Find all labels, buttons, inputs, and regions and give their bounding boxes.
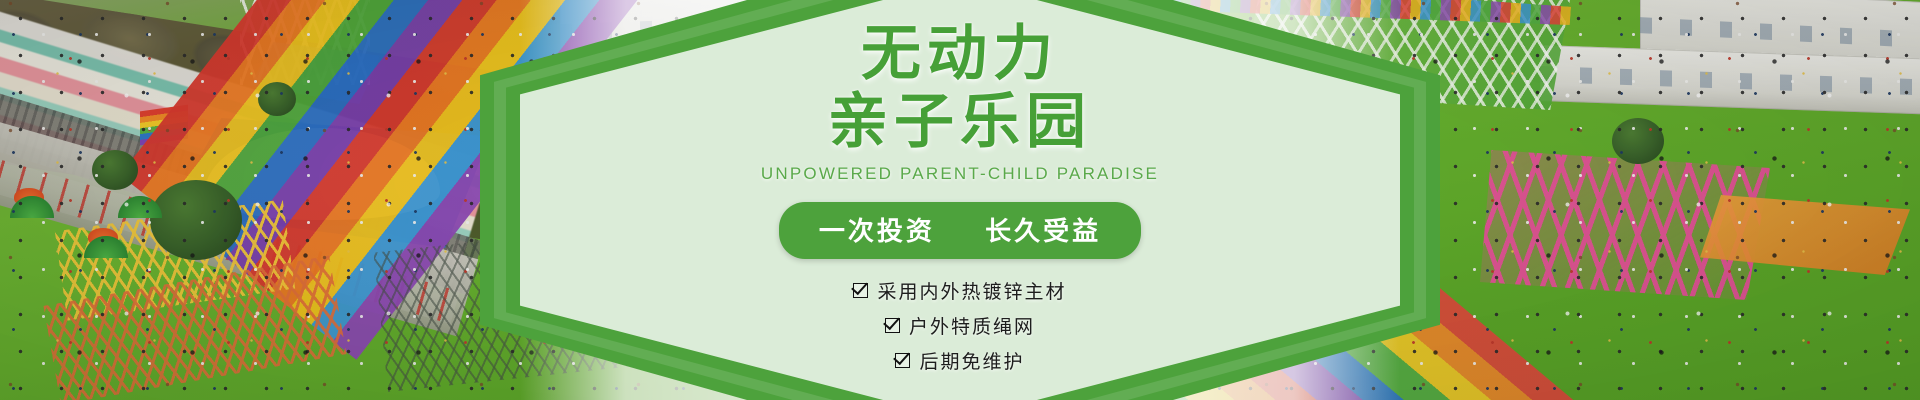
feature-list: 采用内外热镀锌主材 户外特质绳网 后期免维护: [853, 277, 1066, 374]
feature-item-1: 采用内外热镀锌主材: [853, 277, 1066, 304]
headline-block: 无动力 亲子乐园: [828, 24, 1092, 152]
check-box-icon: [885, 318, 900, 333]
tagline-pill: 一次投资 长久受益: [779, 202, 1141, 259]
headline-line-1: 无动力: [828, 24, 1092, 84]
check-box-icon: [853, 283, 868, 298]
feature-item-2: 户外特质绳网: [885, 312, 1035, 339]
promo-banner: 无动力 亲子乐园 UNPOWERED PARENT-CHILD PARADISE…: [0, 0, 1920, 400]
tagline-right: 长久受益: [985, 217, 1101, 247]
banner-content: 无动力 亲子乐园 UNPOWERED PARENT-CHILD PARADISE…: [0, 0, 1920, 400]
english-subtitle: UNPOWERED PARENT-CHILD PARADISE: [761, 164, 1159, 184]
check-box-icon: [895, 353, 910, 368]
feature-label: 采用内外热镀锌主材: [877, 277, 1066, 304]
feature-item-3: 后期免维护: [895, 347, 1024, 374]
feature-label: 户外特质绳网: [909, 312, 1035, 339]
feature-label: 后期免维护: [919, 347, 1024, 374]
headline-line-2: 亲子乐园: [828, 92, 1092, 152]
tagline-left: 一次投资: [819, 217, 935, 247]
